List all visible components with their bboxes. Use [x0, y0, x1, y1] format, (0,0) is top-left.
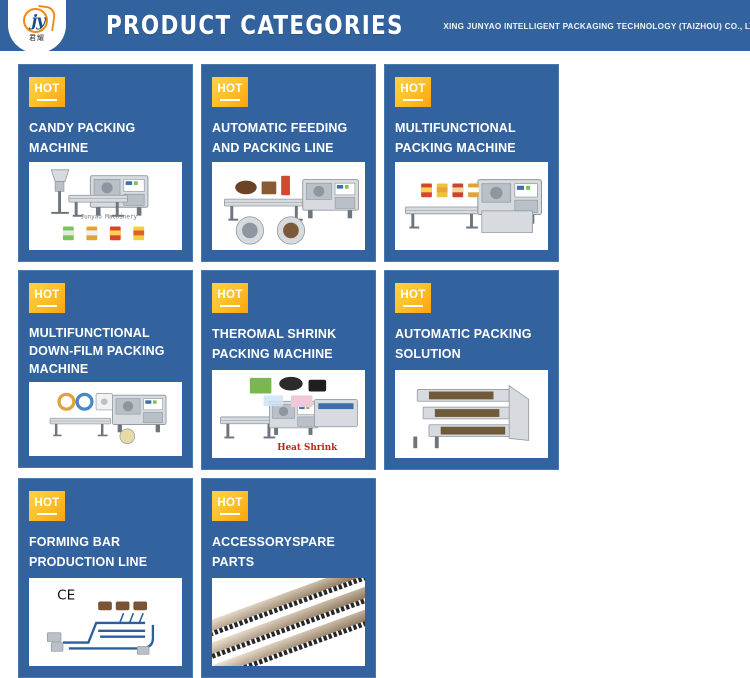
category-card[interactable]: HOTCANDY PACKING MACHINEJunyao Machinery: [18, 64, 193, 262]
hot-badge: HOT: [212, 77, 248, 107]
forming-bar-production-line-photo[interactable]: CE: [29, 578, 182, 666]
automatic-feeding-packing-line-photo[interactable]: [212, 162, 365, 250]
hot-badge: HOT: [395, 77, 431, 107]
category-title[interactable]: AUTOMATIC PACKING SOLUTION: [395, 324, 548, 364]
hot-badge-label: HOT: [217, 498, 242, 510]
hot-badge-label: HOT: [217, 290, 242, 302]
hot-badge-underline: [37, 99, 57, 101]
category-title[interactable]: CANDY PACKING MACHINE: [29, 118, 182, 158]
category-card[interactable]: HOTAUTOMATIC PACKING SOLUTION: [384, 270, 559, 470]
candy-packing-machine-photo[interactable]: Junyao Machinery: [29, 162, 182, 250]
hot-badge: HOT: [212, 491, 248, 521]
hot-badge-label: HOT: [34, 498, 59, 510]
svg-text:Heat Shrink: Heat Shrink: [277, 443, 338, 453]
logo-initials: jy: [29, 13, 44, 29]
hot-badge-label: HOT: [217, 84, 242, 96]
hot-badge: HOT: [29, 491, 65, 521]
hot-badge: HOT: [29, 283, 65, 313]
hot-badge-label: HOT: [34, 84, 59, 96]
category-card[interactable]: HOTFORMING BAR PRODUCTION LINECE: [18, 478, 193, 678]
category-title[interactable]: AUTOMATIC FEEDING AND PACKING LINE: [212, 118, 365, 158]
hot-badge-underline: [403, 99, 423, 101]
hot-badge-underline: [220, 99, 240, 101]
hot-badge-underline: [403, 305, 423, 307]
category-grid: HOTCANDY PACKING MACHINEJunyao Machinery…: [18, 64, 732, 678]
category-title[interactable]: FORMING BAR PRODUCTION LINE: [29, 532, 182, 572]
svg-text:Junyao Machinery: Junyao Machinery: [81, 215, 138, 221]
category-title[interactable]: MULTIFUNCTIONAL DOWN-FILM PACKING MACHIN…: [29, 324, 182, 378]
hot-badge: HOT: [212, 283, 248, 313]
hot-badge-underline: [220, 305, 240, 307]
hot-badge-underline: [37, 513, 57, 515]
category-card[interactable]: HOTTHEROMAL SHRINK PACKING MACHINEHeat S…: [201, 270, 376, 470]
category-title[interactable]: MULTIFUNCTIONAL PACKING MACHINE: [395, 118, 548, 158]
category-card[interactable]: HOTACCESSORYSPARE PARTS: [201, 478, 376, 678]
hot-badge-label: HOT: [400, 84, 425, 96]
theromal-shrink-packing-machine-photo[interactable]: Heat Shrink: [212, 370, 365, 458]
category-title[interactable]: THEROMAL SHRINK PACKING MACHINE: [212, 324, 365, 364]
svg-text:CE: CE: [57, 588, 75, 604]
page-title: PRODUCT CATEGORIES: [106, 11, 404, 41]
category-card[interactable]: HOTAUTOMATIC FEEDING AND PACKING LINE: [201, 64, 376, 262]
category-title[interactable]: ACCESSORYSPARE PARTS: [212, 532, 365, 572]
logo-plate: jy 君耀: [8, 0, 66, 53]
product-categories-page: jy 君耀 PRODUCT CATEGORIES XING JUNYAO INT…: [0, 0, 750, 484]
hot-badge-underline: [37, 305, 57, 307]
multifunctional-packing-machine-photo[interactable]: [395, 162, 548, 250]
jy-logo-icon: jy: [20, 9, 54, 33]
logo-chinese-name: 君耀: [29, 35, 45, 42]
automatic-packing-solution-photo[interactable]: [395, 370, 548, 458]
hot-badge: HOT: [395, 283, 431, 313]
category-card[interactable]: HOTMULTIFUNCTIONAL DOWN-FILM PACKING MAC…: [18, 270, 193, 468]
hot-badge-label: HOT: [34, 290, 59, 302]
accessory-spare-parts-photo[interactable]: [212, 578, 365, 666]
hot-badge-underline: [220, 513, 240, 515]
hot-badge: HOT: [29, 77, 65, 107]
hot-badge-label: HOT: [400, 290, 425, 302]
category-card[interactable]: HOTMULTIFUNCTIONAL PACKING MACHINE: [384, 64, 559, 262]
multifunctional-down-film-packing-machine-photo[interactable]: [29, 382, 182, 456]
company-name: XING JUNYAO INTELLIGENT PACKAGING TECHNO…: [443, 21, 750, 31]
page-header: jy 君耀 PRODUCT CATEGORIES XING JUNYAO INT…: [0, 0, 750, 51]
brand-logo[interactable]: jy 君耀: [0, 0, 70, 51]
